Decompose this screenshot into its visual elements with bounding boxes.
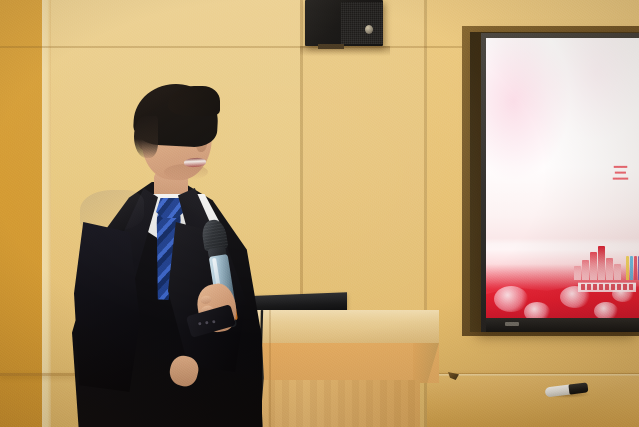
speaker-person	[72, 72, 262, 427]
sleeve-button	[205, 321, 209, 325]
slide-heading-text: 三	[612, 166, 630, 183]
speaker-mount-bracket	[318, 44, 344, 49]
slide-caption-glyph	[629, 284, 633, 290]
slide-caption-glyph	[617, 284, 621, 290]
slide-blossom-icon	[494, 286, 528, 312]
slide-caption-glyph	[605, 284, 609, 290]
slide-chart-bar	[590, 252, 597, 280]
wall-panel-far-left	[0, 0, 42, 427]
speaker-grille-icon	[341, 2, 383, 44]
slide-caption-glyph	[611, 284, 615, 290]
slide-caption-glyph	[581, 284, 585, 290]
display-brand-logo	[505, 322, 519, 326]
slide-chart-bar	[574, 266, 581, 280]
slide-color-bar	[634, 256, 637, 280]
sleeve-button	[212, 320, 216, 324]
photo-scene: 三	[0, 0, 639, 427]
finger	[200, 295, 212, 305]
podium-seam	[269, 310, 271, 427]
slide-chart-bar	[598, 246, 605, 280]
slide-chart-bar	[606, 258, 613, 280]
slide-chart-bar	[614, 264, 621, 280]
slide-caption-glyph	[587, 284, 591, 290]
sleeve-button	[198, 322, 202, 326]
speaker-tweeter-icon	[365, 25, 373, 34]
slide-chart-bar	[582, 260, 589, 280]
wall-panel-seam-strip	[42, 0, 51, 427]
slide-color-bar	[626, 256, 629, 280]
slide-color-bar	[630, 256, 633, 280]
wall-ledge-shelf	[427, 376, 639, 427]
slide-caption-glyph	[623, 284, 627, 290]
slide-caption-glyph	[599, 284, 603, 290]
display-screen: 三	[486, 38, 639, 324]
slide-caption-glyph	[593, 284, 597, 290]
hair-fringe	[168, 86, 220, 116]
jaw-shading	[164, 164, 208, 180]
speaker-shadow	[300, 46, 390, 56]
hair-sideburn	[134, 116, 158, 158]
arm-left	[74, 222, 140, 392]
slide-caption-text	[581, 283, 635, 290]
slide-chart-graphic	[574, 240, 636, 280]
